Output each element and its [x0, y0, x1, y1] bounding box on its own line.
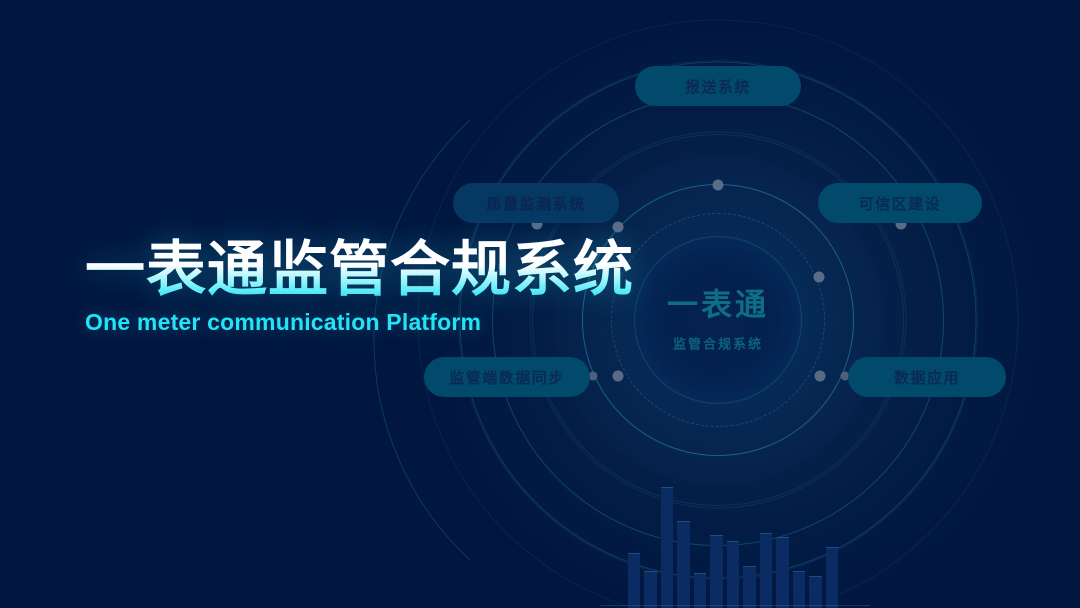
connector-dot-top — [713, 180, 724, 191]
node-pill-reporting[interactable]: 报送系统 — [635, 66, 801, 106]
bar-2 — [644, 571, 656, 608]
bar-11 — [793, 571, 805, 608]
bar-12 — [809, 576, 821, 608]
bar-13 — [826, 547, 838, 608]
slide-canvas: 一表通 监管合规系统 报送系统 质量监测系统 可信区建设 监管端数据同步 数据应… — [0, 0, 1080, 608]
connector-dot-upper-right — [814, 272, 825, 283]
node-pill-quality-monitoring[interactable]: 质量监测系统 — [453, 183, 619, 223]
connector-dot-right-inner — [815, 371, 826, 382]
node-pill-data-sync[interactable]: 监管端数据同步 — [424, 357, 590, 397]
node-pill-trusted-zone[interactable]: 可信区建设 — [818, 183, 982, 223]
page-subtitle: One meter communication Platform — [85, 309, 634, 336]
connector-dot-upper-left — [613, 222, 624, 233]
bar-chart-baseline — [600, 605, 870, 606]
node-pill-data-application[interactable]: 数据应用 — [848, 357, 1006, 397]
title-block: 一表通监管合规系统 One meter communication Platfo… — [85, 238, 634, 336]
connector-dot-left-inner — [613, 371, 624, 382]
hub-disc — [637, 239, 799, 401]
page-title: 一表通监管合规系统 — [85, 238, 634, 301]
